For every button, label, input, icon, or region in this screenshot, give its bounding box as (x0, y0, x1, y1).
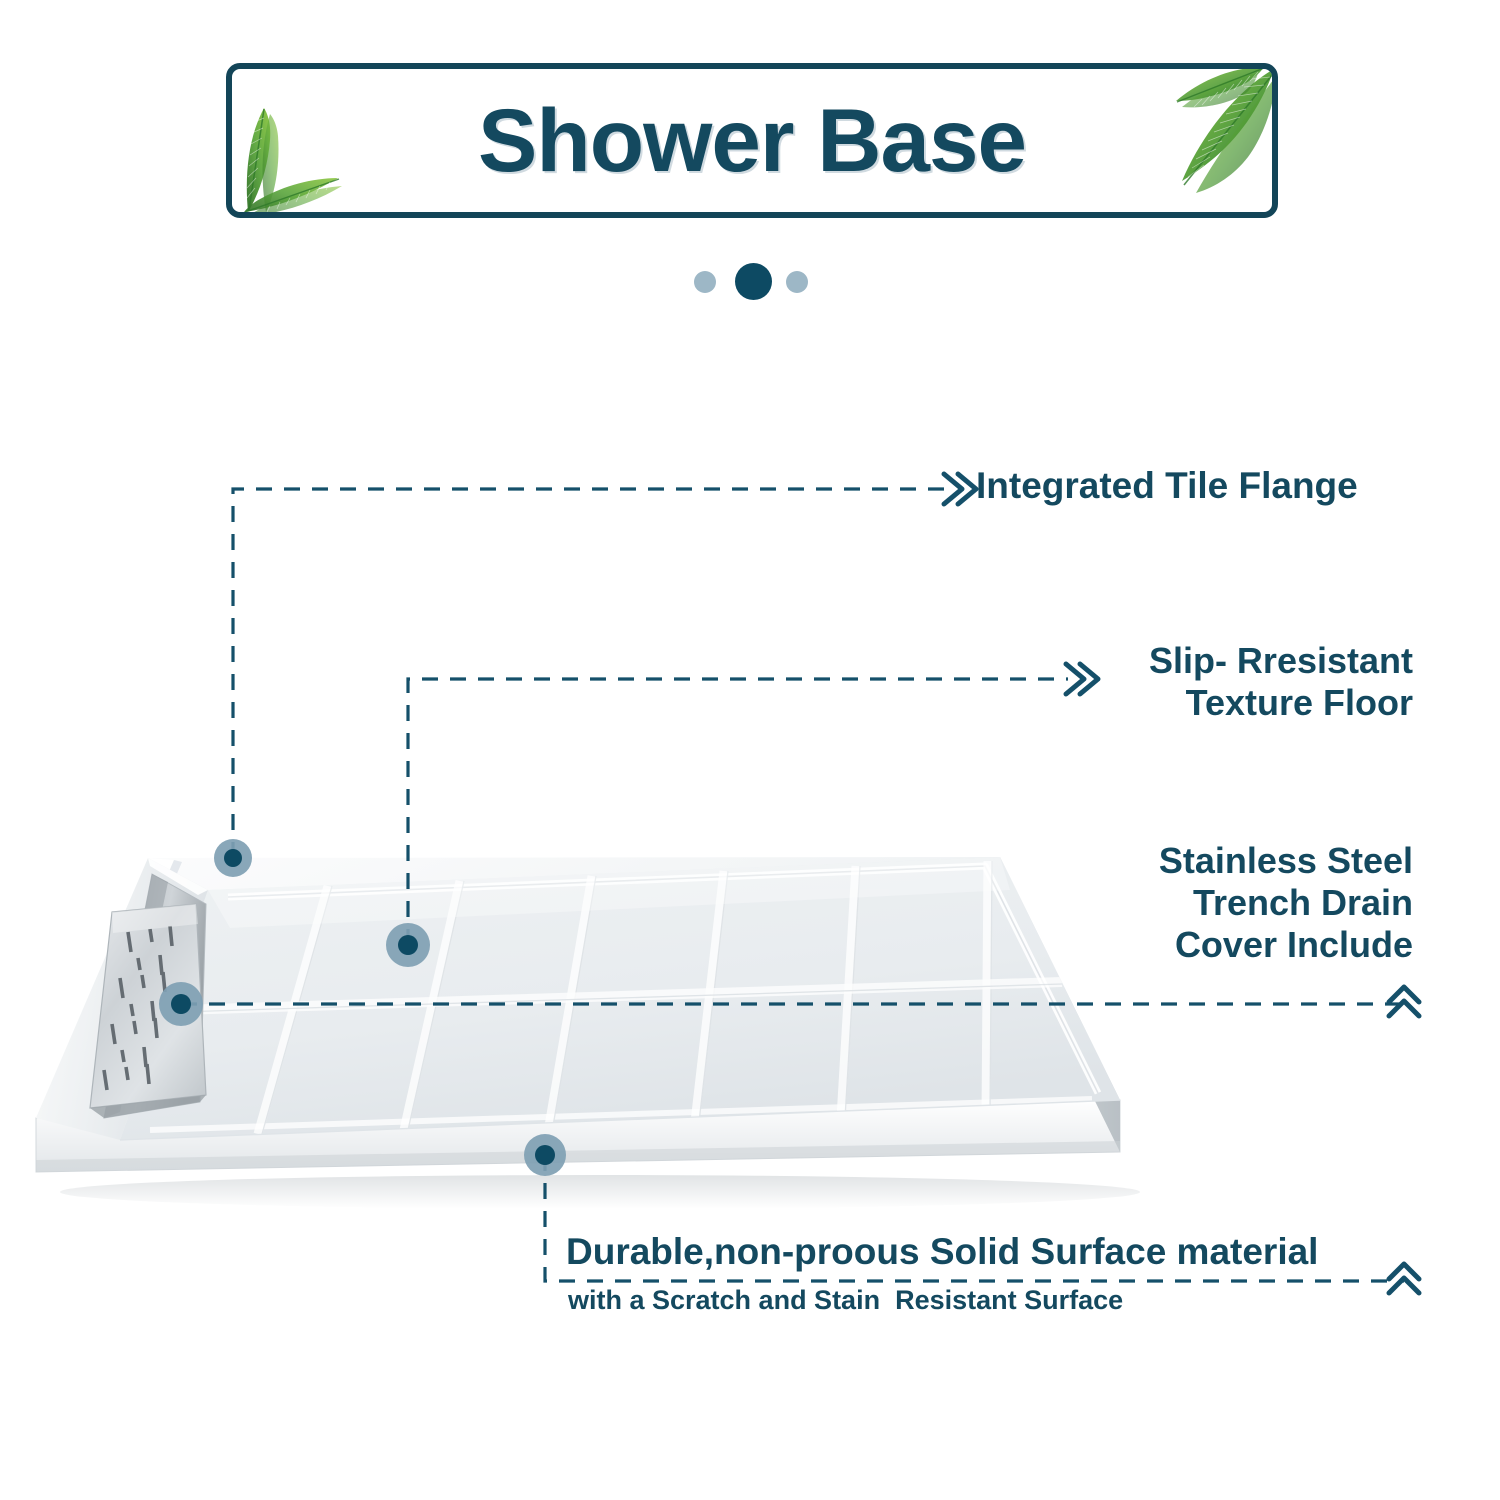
double-chevron-right-icon (944, 474, 976, 504)
marker-core (224, 849, 242, 867)
double-chevron-up-icon (1389, 1264, 1419, 1293)
callout-overlay (0, 0, 1500, 1500)
callout-marker-slip[interactable] (386, 923, 430, 967)
callout-marker-drain[interactable] (159, 982, 203, 1026)
marker-core (171, 994, 191, 1014)
callout-marker-flange[interactable] (214, 839, 252, 877)
double-chevron-up-icon (1389, 987, 1419, 1016)
callout-label-slip: Slip- Rresistant Texture Floor (1100, 640, 1413, 724)
marker-core (535, 1145, 555, 1165)
double-chevron-right-icon (1066, 664, 1098, 694)
callout-line-slip (408, 679, 1068, 945)
callout-sublabel-durable: with a Scratch and Stain Resistant Surfa… (568, 1285, 1123, 1316)
callout-line-flange (233, 489, 944, 858)
marker-core (398, 935, 418, 955)
callout-label-flange: Integrated Tile Flange (976, 465, 1358, 508)
callout-label-drain: Stainless Steel Trench Drain Cover Inclu… (1104, 840, 1413, 965)
callout-marker-durable[interactable] (524, 1134, 566, 1176)
callout-label-durable: Durable,non-proous Solid Surface materia… (566, 1231, 1318, 1274)
